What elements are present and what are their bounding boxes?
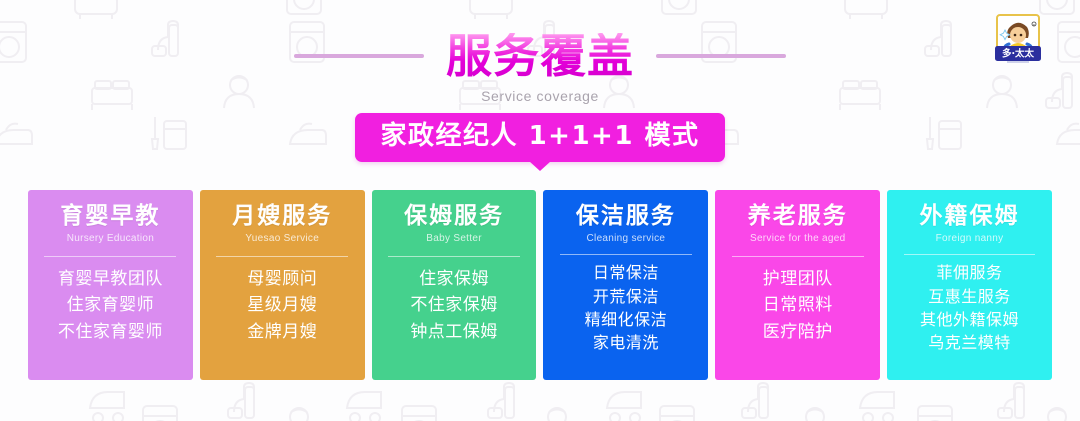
card-item[interactable]: 开荒保洁 — [593, 286, 659, 307]
poster-root: R 多·太太 服务覆盖 Service coverage 家政经纪人 1+1+1… — [0, 0, 1080, 421]
card-subtitle-en: Service for the aged — [750, 233, 846, 244]
page-title: 服务覆盖 — [446, 33, 634, 79]
card-item[interactable]: 住家保姆 — [419, 267, 489, 291]
card-divider — [560, 254, 692, 255]
poster-header: 服务覆盖 Service coverage 家政经纪人 1+1+1 模式 — [0, 0, 1080, 180]
title-row: 服务覆盖 — [0, 26, 1080, 86]
card-item[interactable]: 不住家育婴师 — [58, 320, 163, 344]
card-item[interactable]: 住家育婴师 — [67, 293, 155, 317]
card-item-list: 住家保姆 不住家保姆 钟点工保姆 — [410, 267, 498, 343]
card-title: 保洁服务 — [576, 204, 676, 229]
card-item-list: 母婴顾问 星级月嫂 金牌月嫂 — [247, 267, 317, 343]
model-banner-text: 家政经纪人 1+1+1 模式 — [381, 122, 700, 152]
card-item[interactable]: 不住家保姆 — [410, 293, 498, 317]
card-subtitle-en: Baby Setter — [426, 233, 482, 244]
card-item[interactable]: 金牌月嫂 — [247, 320, 317, 344]
card-title: 育婴早教 — [60, 204, 160, 229]
card-item[interactable]: 星级月嫂 — [247, 293, 317, 317]
card-item[interactable]: 医疗陪护 — [763, 320, 833, 344]
card-item-list: 护理团队 日常照料 医疗陪护 — [763, 267, 833, 343]
service-card-foreign-nanny[interactable]: 外籍保姆 Foreign nanny 菲佣服务 互惠生服务 其他外籍保姆 乌克兰… — [887, 190, 1052, 380]
service-card-cleaning[interactable]: 保洁服务 Cleaning service 日常保洁 开荒保洁 精细化保洁 家电… — [543, 190, 708, 380]
card-title: 养老服务 — [748, 204, 848, 229]
banner-wrap: 家政经纪人 1+1+1 模式 — [0, 113, 1080, 162]
title-rule-left — [294, 54, 424, 58]
card-subtitle-en: Foreign nanny — [936, 233, 1004, 244]
card-item[interactable]: 护理团队 — [763, 267, 833, 291]
service-card-babysitter[interactable]: 保姆服务 Baby Setter 住家保姆 不住家保姆 钟点工保姆 — [372, 190, 537, 380]
card-item[interactable]: 日常保洁 — [593, 262, 659, 283]
service-card-list: 育婴早教 Nursery Education 育婴早教团队 住家育婴师 不住家育… — [28, 190, 1052, 380]
card-subtitle-en: Yuesao Service — [245, 233, 319, 244]
card-item[interactable]: 菲佣服务 — [937, 262, 1003, 283]
card-item[interactable]: 精细化保洁 — [585, 309, 668, 330]
card-item[interactable]: 乌克兰模特 — [928, 332, 1011, 353]
card-title: 保姆服务 — [404, 204, 504, 229]
card-subtitle-en: Cleaning service — [587, 233, 666, 244]
card-item[interactable]: 其他外籍保姆 — [920, 309, 1019, 330]
card-title: 外籍保姆 — [920, 204, 1020, 229]
card-item[interactable]: 家电清洗 — [593, 332, 659, 353]
title-rule-right — [656, 54, 786, 58]
card-item-list: 菲佣服务 互惠生服务 其他外籍保姆 乌克兰模特 — [920, 262, 1019, 353]
card-divider — [388, 256, 520, 257]
card-item-list: 日常保洁 开荒保洁 精细化保洁 家电清洗 — [585, 262, 668, 353]
card-item[interactable]: 钟点工保姆 — [410, 320, 498, 344]
card-item[interactable]: 育婴早教团队 — [58, 267, 163, 291]
page-subtitle-en: Service coverage — [0, 88, 1080, 104]
service-card-elderly[interactable]: 养老服务 Service for the aged 护理团队 日常照料 医疗陪护 — [715, 190, 880, 380]
card-item[interactable]: 日常照料 — [763, 293, 833, 317]
card-title: 月嫂服务 — [232, 204, 332, 229]
card-divider — [216, 256, 348, 257]
card-item[interactable]: 母婴顾问 — [247, 267, 317, 291]
banner-pointer-icon — [529, 161, 551, 171]
service-card-yuesao[interactable]: 月嫂服务 Yuesao Service 母婴顾问 星级月嫂 金牌月嫂 — [200, 190, 365, 380]
card-divider — [44, 256, 176, 257]
card-item-list: 育婴早教团队 住家育婴师 不住家育婴师 — [58, 267, 163, 343]
card-divider — [904, 254, 1036, 255]
card-subtitle-en: Nursery Education — [67, 233, 154, 244]
card-item[interactable]: 互惠生服务 — [928, 286, 1011, 307]
model-banner: 家政经纪人 1+1+1 模式 — [355, 113, 726, 162]
service-card-nursery[interactable]: 育婴早教 Nursery Education 育婴早教团队 住家育婴师 不住家育… — [28, 190, 193, 380]
card-divider — [732, 256, 864, 257]
